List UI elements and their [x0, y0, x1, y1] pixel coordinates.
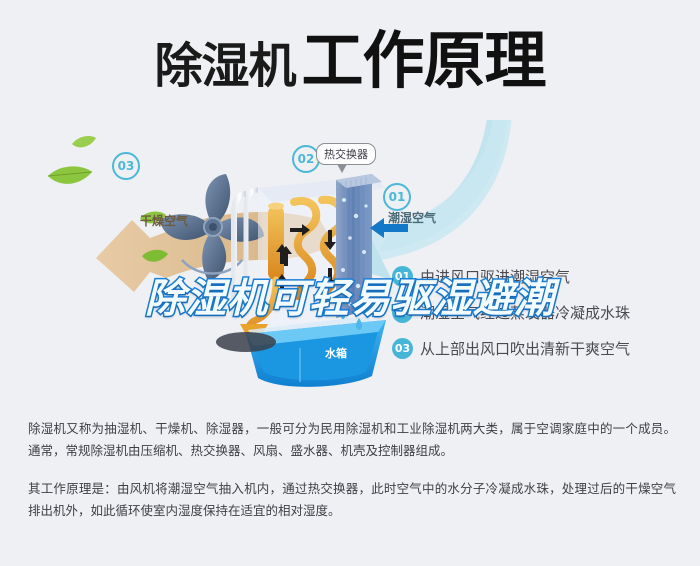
paragraph-principle: 其工作原理是：由风机将潮湿空气抽入机内，通过热交换器，此时空气中的水分子冷凝成水… — [28, 478, 676, 522]
label-dry-air: 干燥空气 — [140, 212, 188, 229]
title-prefix: 除湿机 — [154, 38, 295, 94]
page-title: 除湿机工作原理 — [0, 30, 700, 92]
paragraph-intro: 除湿机又称为抽湿机、干燥机、除湿器，一般可分为民用除湿机和工业除湿机两大类，属于… — [28, 418, 676, 462]
body-copy: 除湿机又称为抽湿机、干燥机、除湿器，一般可分为民用除湿机和工业除湿机两大类，属于… — [28, 418, 676, 538]
humid-air-arrow-icon — [352, 120, 512, 280]
diagram-badge-03: 03 — [112, 152, 140, 180]
label-water-tank: 水箱 — [325, 345, 347, 361]
step-text: 从上部出风口吹出清新干爽空气 — [420, 338, 630, 359]
list-item: 03 从上部出风口吹出清新干爽空气 — [392, 330, 692, 366]
label-heat-exchanger: 热交换器 — [316, 143, 376, 165]
step-badge: 03 — [392, 338, 413, 359]
diagram-badge-01: 01 — [383, 183, 411, 211]
overlay-headline: 除湿机可轻易驱湿避潮 — [0, 266, 700, 324]
machine-base — [216, 332, 276, 352]
title-main: 工作原理 — [302, 24, 546, 97]
label-humid-air: 潮湿空气 — [388, 209, 436, 226]
infographic-card: 除湿机工作原理 — [0, 0, 700, 406]
